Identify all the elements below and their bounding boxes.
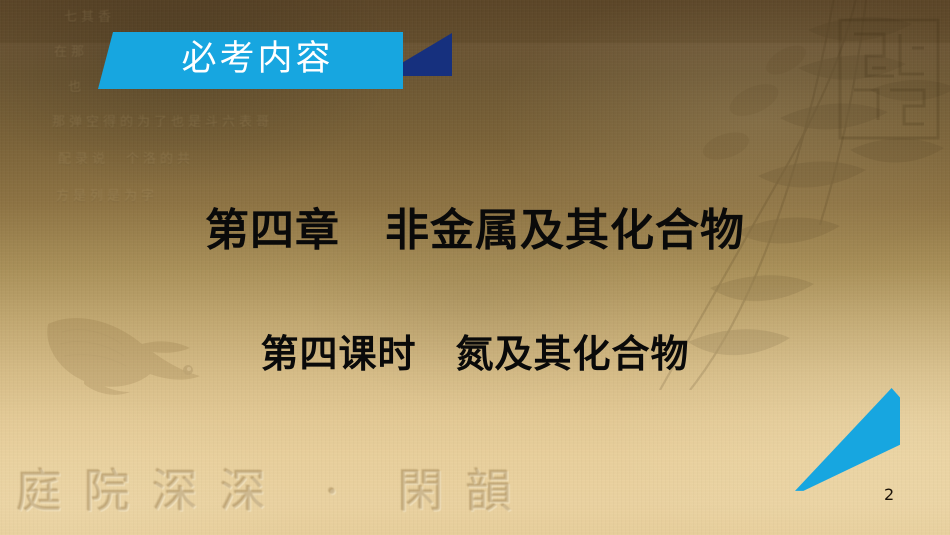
ornamental-seal-illustration	[834, 14, 944, 144]
background-script-line: 配录说 个洛的共	[58, 148, 352, 167]
background-script-line: 方是列是为字	[56, 185, 352, 204]
banner-label: 必考内容	[167, 42, 333, 79]
slide-canvas: 七其香 在那 也 那弹空得的为了也是斗六表哥 配录说 个洛的共 方是列是为字 庭…	[0, 0, 950, 535]
section-banner: 必考内容	[0, 0, 470, 120]
banner-body: 必考内容	[98, 32, 403, 89]
seal-script-watermark: 庭院深深 · 閑韻	[16, 455, 534, 521]
chapter-title: 第四章 非金属及其化合物	[0, 206, 950, 257]
lesson-subtitle: 第四课时 氮及其化合物	[0, 333, 950, 377]
page-number: 2	[884, 487, 894, 503]
